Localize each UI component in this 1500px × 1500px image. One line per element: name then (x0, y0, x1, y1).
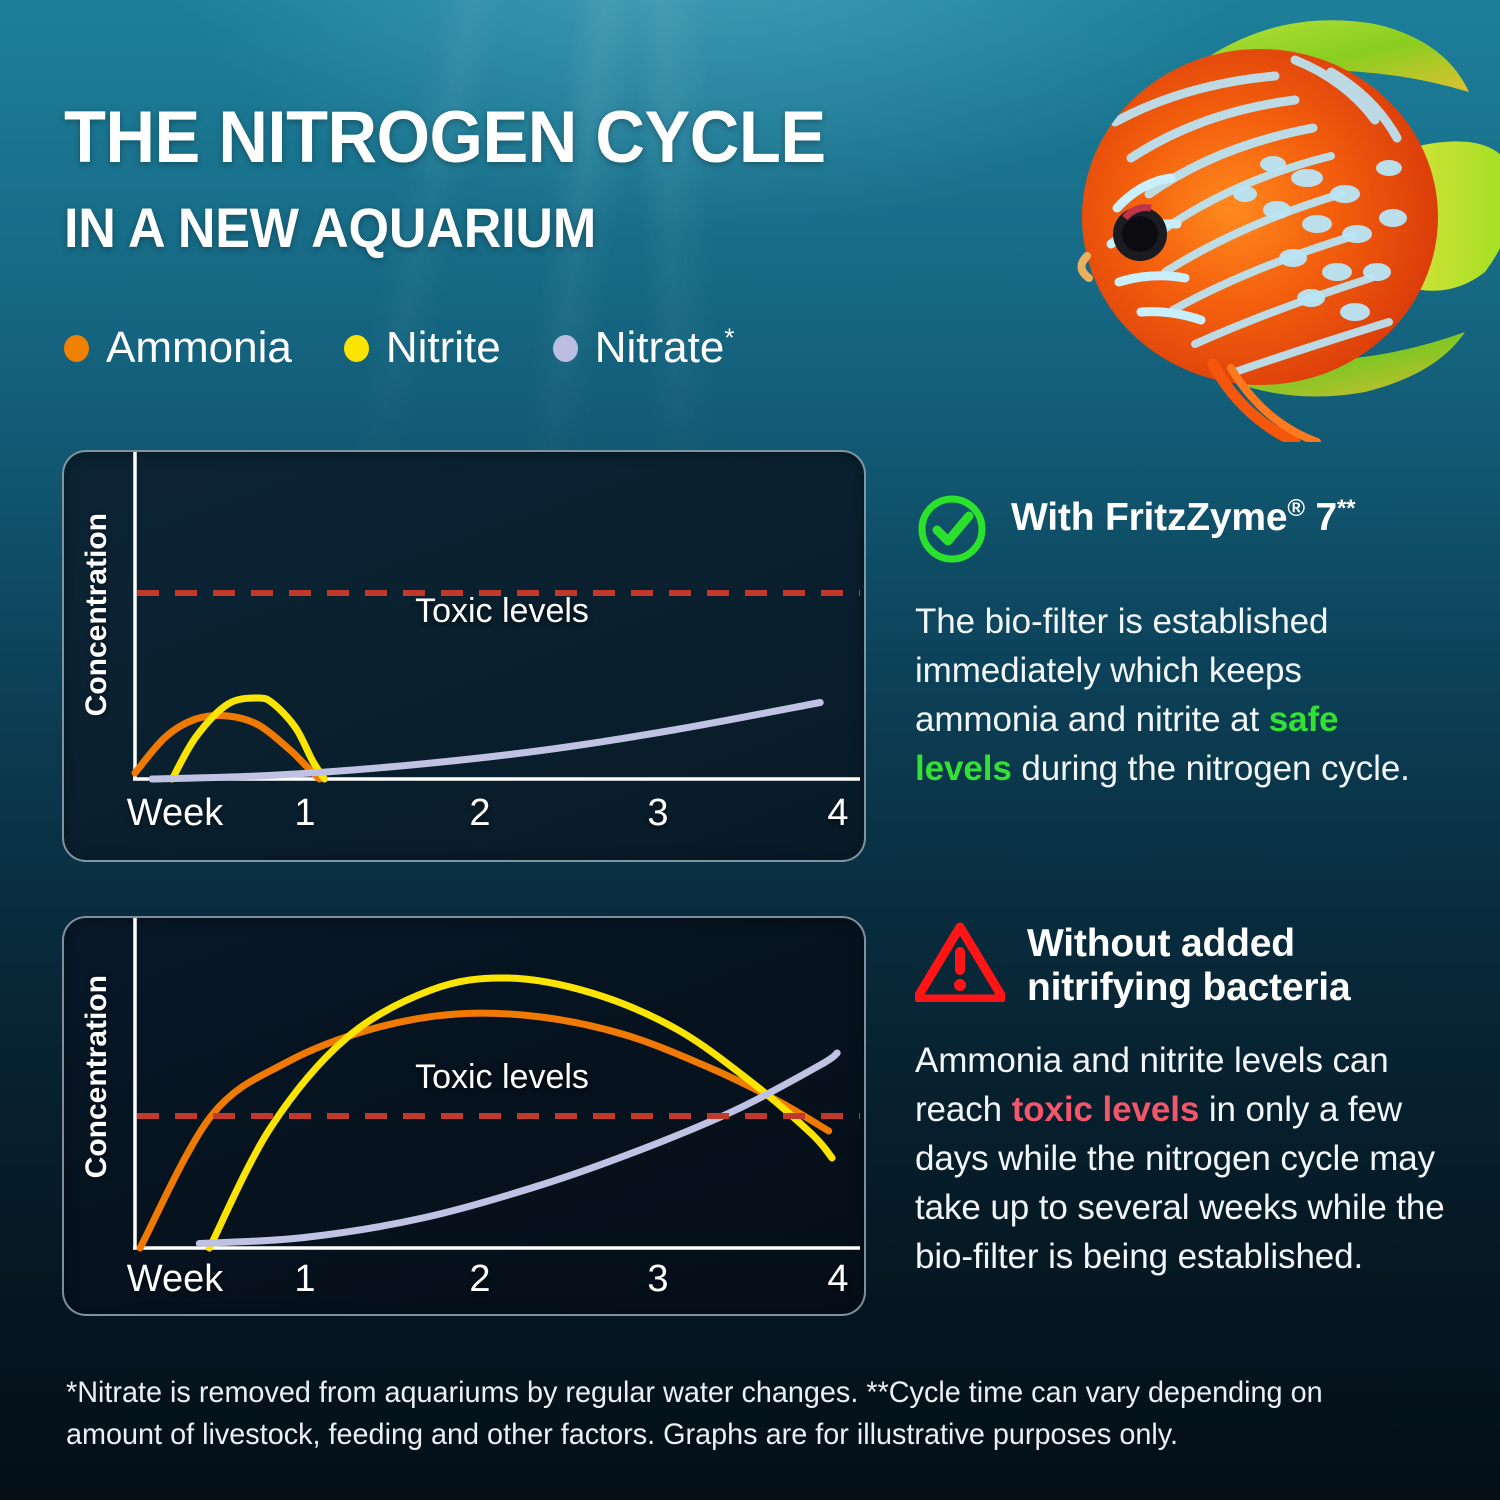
panel-without-bacteria: Without addednitrifying bacteria Ammonia… (915, 918, 1445, 1281)
infographic-page: THE NITROGEN CYCLE IN A NEW AQUARIUM Amm… (0, 0, 1500, 1500)
series-line-nitrite (209, 978, 832, 1248)
page-title: THE NITROGEN CYCLE (64, 101, 826, 174)
legend-label-nitrate: Nitrate* (595, 325, 735, 371)
series-legend: Ammonia Nitrite Nitrate* (64, 325, 786, 371)
chart-2-plot (64, 918, 860, 1310)
x-tick-2: 2 (469, 1258, 490, 1301)
panel-1-body-part-3: during the nitrogen cycle. (1012, 749, 1410, 788)
legend-label-nitrite: Nitrite (386, 325, 501, 371)
chart-1-y-axis-label: Concentration (80, 513, 114, 716)
legend-item-nitrate: Nitrate* (553, 325, 735, 371)
chart-card-without-bacteria (62, 916, 866, 1316)
legend-item-ammonia: Ammonia (64, 325, 292, 371)
footnote-disclaimer: *Nitrate is removed from aquariums by re… (66, 1372, 1362, 1456)
page-subtitle: IN A NEW AQUARIUM (64, 200, 596, 256)
panel-1-body-part-1: The bio-filter is established immediatel… (915, 602, 1328, 739)
legend-item-nitrite: Nitrite (344, 325, 501, 371)
x-tick-1: 1 (294, 1258, 315, 1301)
discus-fish-image (1045, 0, 1500, 442)
series-line-nitrate (152, 703, 820, 780)
series-line-nitrite (172, 698, 324, 779)
x-tick-2: 2 (469, 792, 490, 835)
x-tick-week: Week (127, 1258, 223, 1301)
chart-1-toxic-levels-label: Toxic levels (415, 592, 589, 631)
legend-dot-nitrate (553, 335, 578, 362)
x-tick-4: 4 (827, 1258, 848, 1301)
panel-2-body: Ammonia and nitrite levels can reach tox… (915, 1036, 1445, 1281)
panel-2-header: Without addednitrifying bacteria (915, 918, 1445, 1010)
x-tick-3: 3 (647, 792, 668, 835)
legend-nitrate-asterisk: * (724, 322, 734, 352)
panel-1-header: With FritzZyme® 7** (915, 492, 1435, 571)
x-tick-4: 4 (827, 792, 848, 835)
legend-label-ammonia: Ammonia (106, 325, 292, 371)
legend-dot-ammonia (64, 335, 89, 362)
chart-2-y-axis-label: Concentration (80, 975, 114, 1178)
panel-2-toxic-levels-highlight: toxic levels (1012, 1090, 1200, 1129)
warning-triangle-icon (915, 920, 1005, 1007)
panel-with-fritzzyme: With FritzZyme® 7** The bio-filter is es… (915, 492, 1435, 793)
x-tick-1: 1 (294, 792, 315, 835)
panel-2-title: Without addednitrifying bacteria (1027, 918, 1350, 1010)
panel-1-body: The bio-filter is established immediatel… (915, 597, 1435, 793)
x-tick-3: 3 (647, 1258, 668, 1301)
check-circle-icon (915, 492, 989, 571)
legend-dot-nitrite (344, 335, 369, 362)
series-line-ammonia (140, 1013, 829, 1248)
chart-2-toxic-levels-label: Toxic levels (415, 1058, 589, 1097)
x-tick-week: Week (127, 792, 223, 835)
panel-1-title: With FritzZyme® 7** (1011, 492, 1355, 540)
